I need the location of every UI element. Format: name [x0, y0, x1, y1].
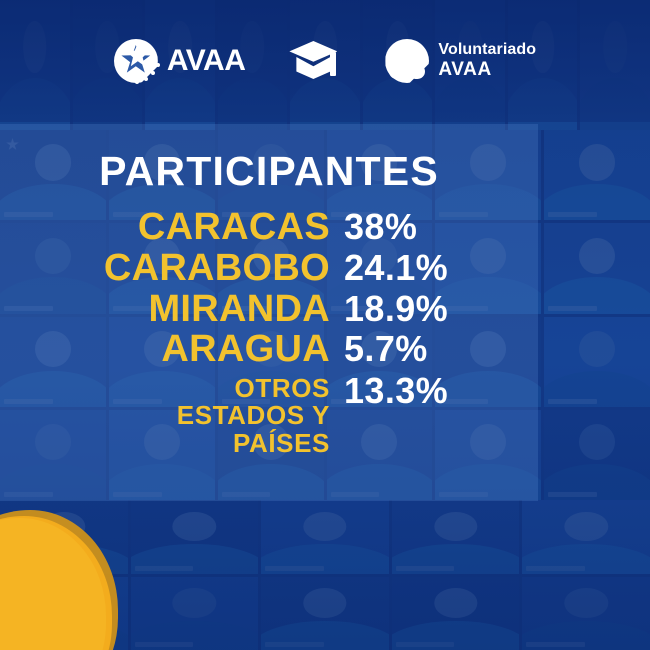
stat-label-otros-estados-y-paises: OTROS ESTADOS Y PAÍSES [0, 375, 330, 457]
avaa-logo: AVAA [114, 39, 246, 83]
voluntariado-line-1: Voluntariado [438, 41, 536, 58]
stats-content: PARTICIPANTES CARACAS 38% CARABOBO 24.1%… [0, 124, 538, 501]
stat-label-aragua: ARAGUA [0, 330, 330, 369]
graduation-logo [289, 39, 341, 83]
stat-value-miranda: 18.9% [330, 291, 448, 328]
stat-label-line-1: OTROS [235, 373, 330, 403]
voluntariado-logo: Voluntariado AVAA [385, 39, 536, 83]
stat-row: MIRANDA 18.9% [0, 290, 538, 329]
logo-header-band: AVAA Voluntariado AVAA [0, 0, 650, 122]
stat-row: OTROS ESTADOS Y PAÍSES 13.3% [0, 375, 538, 457]
graduation-cap-icon [289, 39, 341, 83]
page-title: PARTICIPANTES [0, 148, 538, 195]
stat-label-miranda: MIRANDA [0, 290, 330, 329]
voluntariado-line-2: AVAA [438, 59, 491, 80]
stat-label-carabobo: CARABOBO [0, 249, 330, 288]
stat-value-aragua: 5.7% [330, 331, 428, 368]
avaa-star-badge-icon [114, 39, 158, 83]
stat-value-caracas: 38% [330, 209, 417, 246]
stat-label-caracas: CARACAS [0, 208, 330, 247]
heart-in-hands-icon [385, 39, 429, 83]
stat-row: ARAGUA 5.7% [0, 330, 538, 369]
voluntariado-logo-text: Voluntariado AVAA [438, 41, 536, 80]
avaa-logo-text: AVAA [167, 44, 246, 78]
poster-canvas: AVAA Voluntariado AVAA PARTICIPANTES [0, 0, 650, 650]
participants-stats-list: CARACAS 38% CARABOBO 24.1% MIRANDA 18.9%… [0, 208, 538, 459]
stat-row: CARACAS 38% [0, 208, 538, 247]
stat-value-otros-estados-y-paises: 13.3% [330, 373, 448, 410]
stat-label-line-3: PAÍSES [233, 428, 330, 458]
stat-row: CARABOBO 24.1% [0, 249, 538, 288]
stat-value-carabobo: 24.1% [330, 250, 448, 287]
stat-label-line-2: ESTADOS Y [177, 400, 330, 430]
